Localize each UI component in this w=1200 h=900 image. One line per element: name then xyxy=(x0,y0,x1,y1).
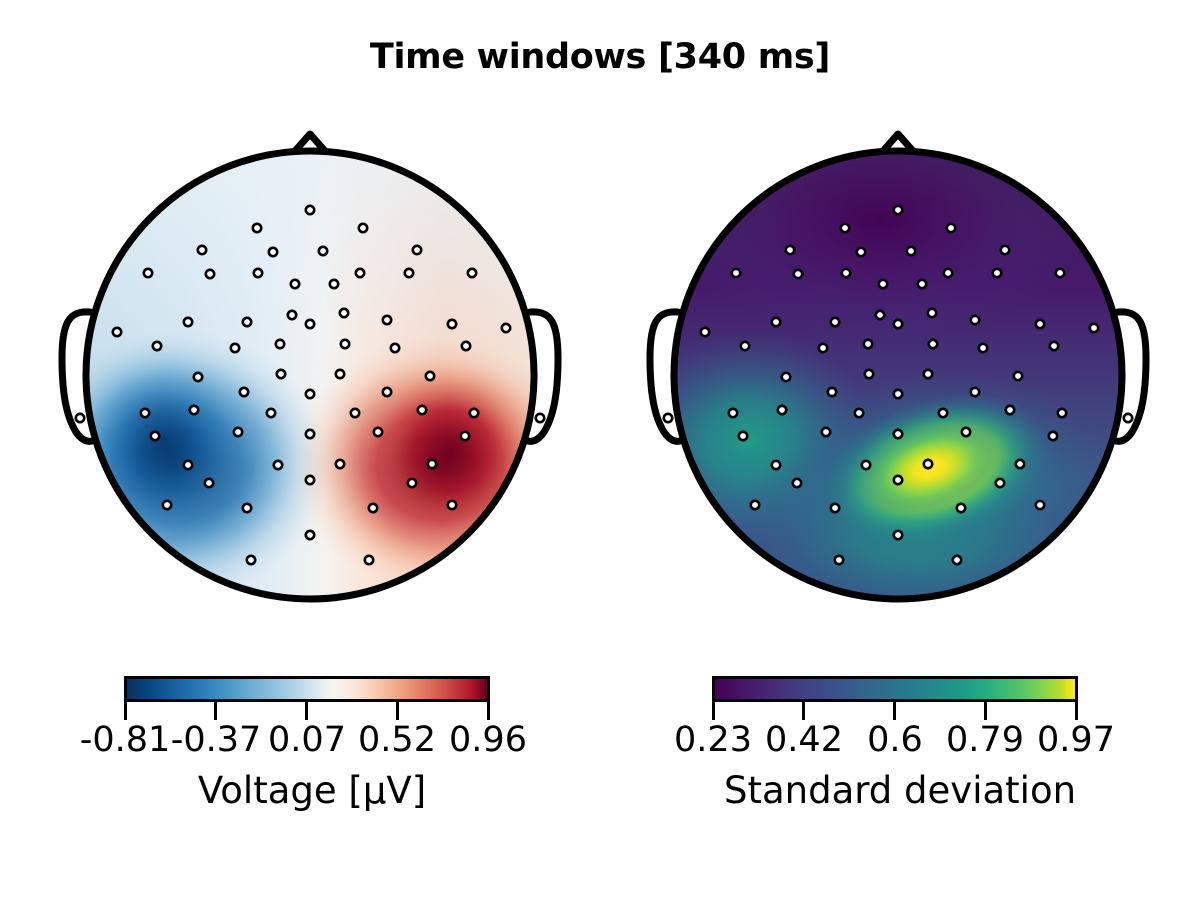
sensor-marker xyxy=(383,316,391,324)
sensor-marker xyxy=(841,224,849,232)
sensor-marker xyxy=(1014,372,1022,380)
sensor-marker xyxy=(1090,324,1098,332)
sensor-marker xyxy=(163,501,171,509)
sensor-marker xyxy=(842,269,850,277)
sensor-marker xyxy=(306,390,314,398)
sensor-marker xyxy=(468,269,476,277)
sensor-marker xyxy=(786,246,794,254)
sensor-marker xyxy=(243,318,251,326)
colorbar-ticklabel: 0.96 xyxy=(428,718,548,762)
sensor-marker xyxy=(979,344,987,352)
colorbar-title-voltage: Voltage [µV] xyxy=(42,768,582,814)
sensor-marker xyxy=(996,479,1004,487)
sensor-marker xyxy=(1016,460,1024,468)
sensor-marker xyxy=(822,428,830,436)
sensor-marker xyxy=(356,269,364,277)
colorbar-gradient-standard-deviation xyxy=(712,676,1078,702)
sensor-marker xyxy=(76,414,84,422)
sensor-marker xyxy=(428,460,436,468)
sensor-marker xyxy=(351,409,359,417)
sensor-marker xyxy=(194,373,202,381)
sensor-marker xyxy=(413,246,421,254)
colorbar-ramp-viridis xyxy=(715,679,1075,699)
sensor-marker xyxy=(835,556,843,564)
sensor-marker xyxy=(243,504,251,512)
topomap-standard-deviation-plot xyxy=(630,110,1170,640)
sensor-marker xyxy=(862,461,870,469)
topomap-panel-voltage xyxy=(42,110,582,640)
sensor-marker xyxy=(928,309,936,317)
sensor-marker xyxy=(819,344,827,352)
sensor-marker xyxy=(907,247,915,255)
sensor-marker xyxy=(772,461,780,469)
sensor-marker xyxy=(1058,409,1066,417)
sensor-marker xyxy=(426,372,434,380)
sensor-marker xyxy=(206,270,214,278)
sensor-marker xyxy=(341,340,349,348)
sensor-marker xyxy=(894,206,902,214)
sensor-marker xyxy=(340,309,348,317)
colorbar-voltage: -0.81 -0.37 0.07 0.52 0.96 Voltage [µV] xyxy=(42,660,582,870)
colorbar-ramp-rdbu xyxy=(127,679,487,699)
sensor-marker xyxy=(664,414,672,422)
sensor-marker xyxy=(231,344,239,352)
sensor-marker xyxy=(1036,501,1044,509)
sensor-marker xyxy=(462,342,470,350)
sensor-marker xyxy=(924,460,932,468)
sensor-marker xyxy=(1036,320,1044,328)
sensor-marker xyxy=(894,320,902,328)
sensor-marker xyxy=(751,501,759,509)
sensor-marker xyxy=(1050,342,1058,350)
sensor-marker xyxy=(365,556,373,564)
sensor-marker xyxy=(418,406,426,414)
sensor-marker xyxy=(374,428,382,436)
sensor-marker xyxy=(276,340,284,348)
sensor-marker xyxy=(306,320,314,328)
colorbar-ticklabels-voltage: -0.81 -0.37 0.07 0.52 0.96 xyxy=(42,718,582,764)
sensor-marker xyxy=(306,430,314,438)
sensor-marker xyxy=(1124,414,1132,422)
sensor-marker xyxy=(944,269,952,277)
sensor-marker xyxy=(234,428,242,436)
sensor-marker xyxy=(1001,246,1009,254)
topomap-panel-standard-deviation xyxy=(630,110,1170,640)
sensor-marker xyxy=(288,311,296,319)
sensor-marker xyxy=(782,373,790,381)
sensor-marker xyxy=(291,280,299,288)
colorbar-title-standard-deviation: Standard deviation xyxy=(630,768,1170,814)
sensor-marker xyxy=(184,461,192,469)
topomap-voltage-plot xyxy=(42,110,582,640)
sensor-marker xyxy=(741,342,749,350)
sensor-marker xyxy=(962,428,970,436)
sensor-marker xyxy=(306,476,314,484)
sensor-marker xyxy=(405,269,413,277)
sensor-marker xyxy=(729,409,737,417)
sensor-marker xyxy=(828,388,836,396)
sensor-marker xyxy=(330,280,338,288)
sensor-marker xyxy=(894,476,902,484)
sensor-marker xyxy=(253,224,261,232)
sensor-marker xyxy=(929,340,937,348)
sensor-marker xyxy=(247,556,255,564)
sensor-marker xyxy=(306,531,314,539)
sensor-marker xyxy=(336,460,344,468)
sensor-marker xyxy=(448,501,456,509)
sensor-marker xyxy=(794,270,802,278)
sensor-marker xyxy=(254,269,262,277)
sensor-marker xyxy=(865,370,873,378)
sensor-marker xyxy=(1006,406,1014,414)
sensor-marker xyxy=(336,370,344,378)
sensor-marker xyxy=(732,269,740,277)
sensor-marker xyxy=(267,409,275,417)
sensor-marker xyxy=(831,318,839,326)
sensor-marker xyxy=(190,406,198,414)
colorbar-gradient-voltage xyxy=(124,676,490,702)
sensor-marker xyxy=(448,320,456,328)
sensor-marker xyxy=(993,269,1001,277)
colorbar-ticklabel: 0.97 xyxy=(1016,718,1136,762)
sensor-marker xyxy=(383,388,391,396)
sensor-marker xyxy=(1056,269,1064,277)
sensor-marker xyxy=(701,328,709,336)
sensor-marker xyxy=(319,247,327,255)
sensor-marker xyxy=(502,324,510,332)
sensor-marker xyxy=(739,432,747,440)
sensor-marker xyxy=(894,430,902,438)
sensor-marker xyxy=(269,248,277,256)
sensor-marker xyxy=(391,344,399,352)
sensor-marker xyxy=(240,388,248,396)
sensor-marker xyxy=(277,370,285,378)
sensor-marker xyxy=(879,280,887,288)
sensor-marker xyxy=(198,246,206,254)
sensor-marker xyxy=(1049,432,1057,440)
sensor-marker xyxy=(536,414,544,422)
sensor-marker xyxy=(205,479,213,487)
sensor-marker xyxy=(144,269,152,277)
page-title: Time windows [340 ms] xyxy=(0,36,1200,78)
sensor-marker xyxy=(894,531,902,539)
sensor-marker xyxy=(971,388,979,396)
sensor-marker xyxy=(855,409,863,417)
sensor-marker xyxy=(153,342,161,350)
sensor-marker xyxy=(184,318,192,326)
sensor-marker xyxy=(141,409,149,417)
sensor-marker xyxy=(778,406,786,414)
sensor-marker xyxy=(939,409,947,417)
colorbar-ticklabels-standard-deviation: 0.23 0.42 0.6 0.79 0.97 xyxy=(630,718,1170,764)
sensor-marker xyxy=(461,432,469,440)
eeg-topomap-figure: Time windows [340 ms] xyxy=(0,0,1200,900)
sensor-marker xyxy=(876,311,884,319)
sensor-marker xyxy=(924,370,932,378)
sensor-marker xyxy=(793,479,801,487)
sensor-marker xyxy=(971,316,979,324)
sensor-marker xyxy=(918,280,926,288)
sensor-marker xyxy=(306,206,314,214)
sensor-marker xyxy=(831,504,839,512)
sensor-marker xyxy=(274,461,282,469)
sensor-marker xyxy=(957,504,965,512)
colorbar-standard-deviation: 0.23 0.42 0.6 0.79 0.97 Standard deviati… xyxy=(630,660,1170,870)
sensor-marker xyxy=(408,479,416,487)
sensor-marker xyxy=(894,390,902,398)
sensor-marker xyxy=(947,224,955,232)
sensor-marker xyxy=(369,504,377,512)
sensor-marker xyxy=(857,248,865,256)
sensor-marker xyxy=(953,556,961,564)
sensor-marker xyxy=(864,340,872,348)
sensor-marker xyxy=(151,432,159,440)
sensor-marker xyxy=(359,224,367,232)
sensor-marker xyxy=(470,409,478,417)
sensor-marker xyxy=(113,328,121,336)
sensor-marker xyxy=(772,318,780,326)
